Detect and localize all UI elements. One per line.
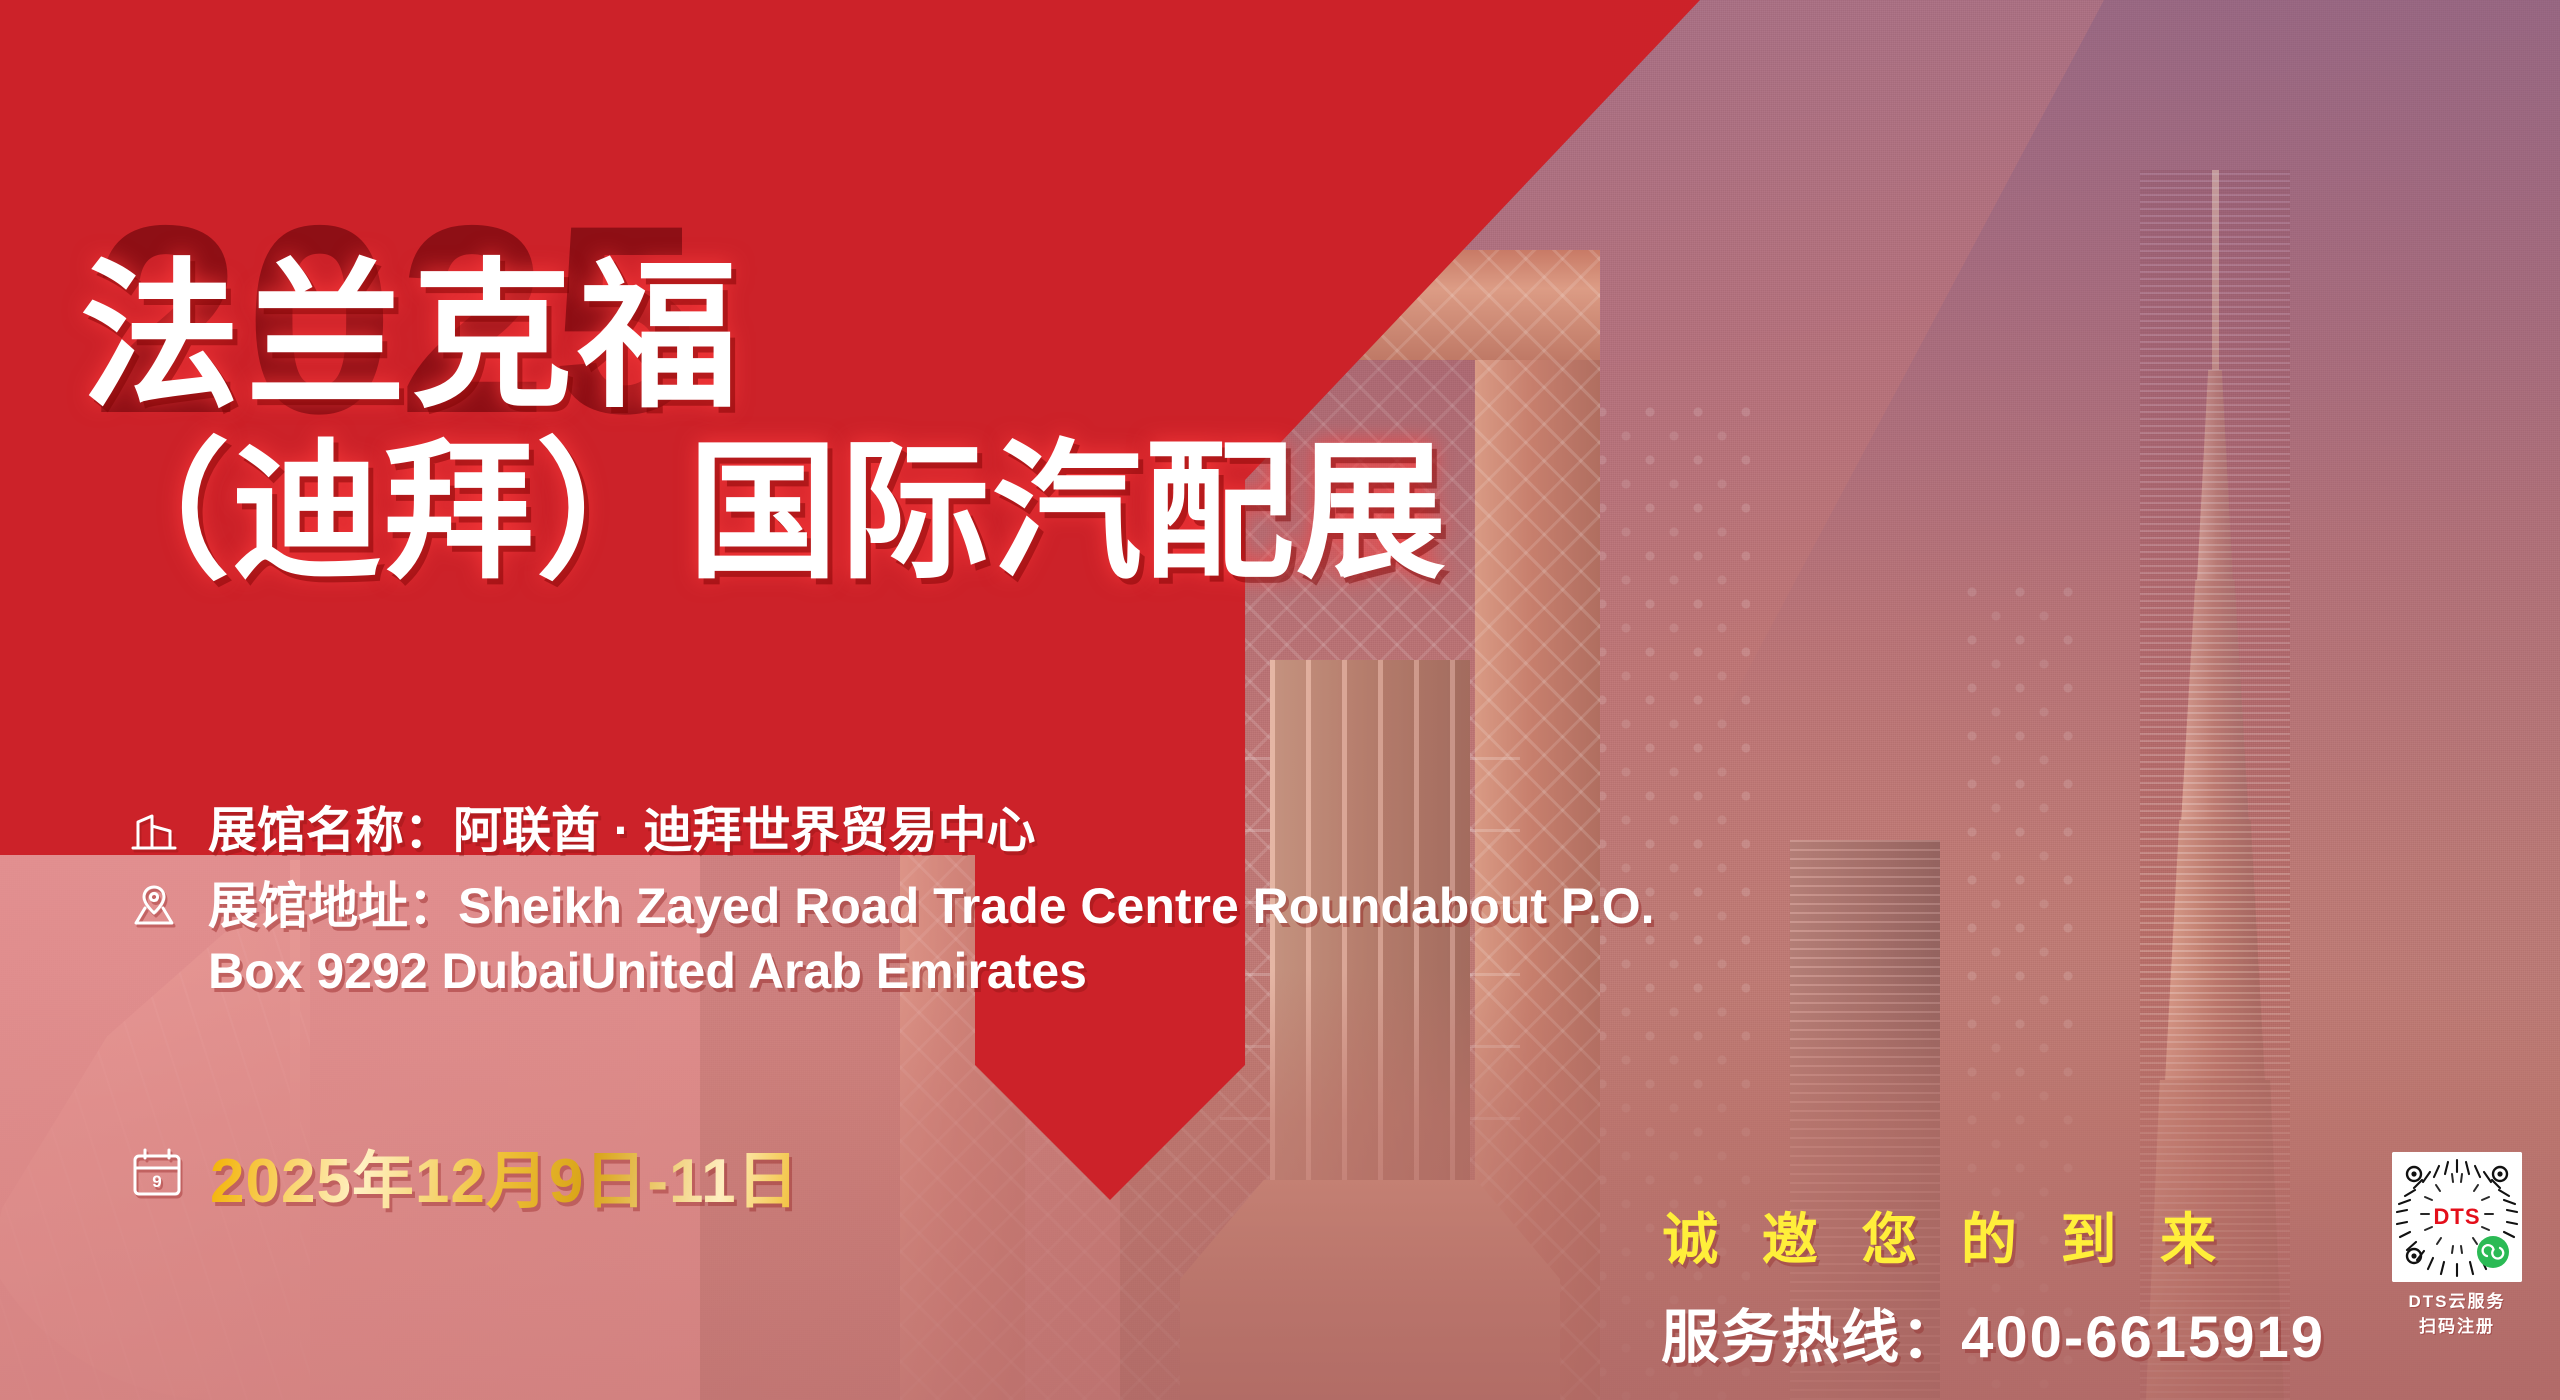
svg-text:9: 9 [152,1172,161,1191]
qr-caption-line-1: DTS云服务 [2409,1292,2506,1311]
venue-info-block: 展馆名称：阿联酋 · 迪拜世界贸易中心 展馆地址：Sheikh Zayed Ro… [128,800,2128,1014]
qr-caption: DTS云服务 扫码注册 [2382,1290,2532,1339]
calendar-icon: 9 [128,1144,190,1206]
title-line-2: （迪拜）国际汽配展 [80,436,1448,589]
venue-name-row: 展馆名称：阿联酋 · 迪拜世界贸易中心 [128,800,2128,864]
address-line-2: Box 9292 DubaiUnited Arab Emirates [208,943,1087,999]
event-date-text: 2025年12月9日-11日 [210,1130,800,1220]
service-hotline-text: 服务热线：400-6615919 [1661,1290,2325,1374]
qr-caption-line-2: 扫码注册 [2419,1317,2495,1336]
invitation-text: 诚 邀 您 的 到 来 [1662,1195,2230,1276]
event-date-row: 9 2025年12月9日-11日 [128,1130,800,1220]
qr-code-image[interactable]: DTS [2392,1152,2522,1282]
venue-address-row: 展馆地址：Sheikh Zayed Road Trade Centre Roun… [128,874,2128,1004]
qr-code-block[interactable]: DTS DTS云服务 扫码注册 [2382,1152,2532,1339]
venue-address-text: 展馆地址：Sheikh Zayed Road Trade Centre Roun… [208,874,1655,1004]
title-line-1: 法兰克福 [80,255,1448,418]
exhibition-poster: 2025 法兰克福 （迪拜）国际汽配展 展馆名称：阿联酋 · 迪拜世界贸易中心 [0,0,2560,1400]
svg-text:DTS: DTS [2434,1204,2481,1229]
venue-name-text: 展馆名称：阿联酋 · 迪拜世界贸易中心 [208,800,1036,864]
map-pin-icon [128,878,192,938]
building-icon [128,804,192,864]
address-line-1: 展馆地址：Sheikh Zayed Road Trade Centre Roun… [208,878,1655,934]
poster-title: 法兰克福 （迪拜）国际汽配展 [80,255,1448,589]
